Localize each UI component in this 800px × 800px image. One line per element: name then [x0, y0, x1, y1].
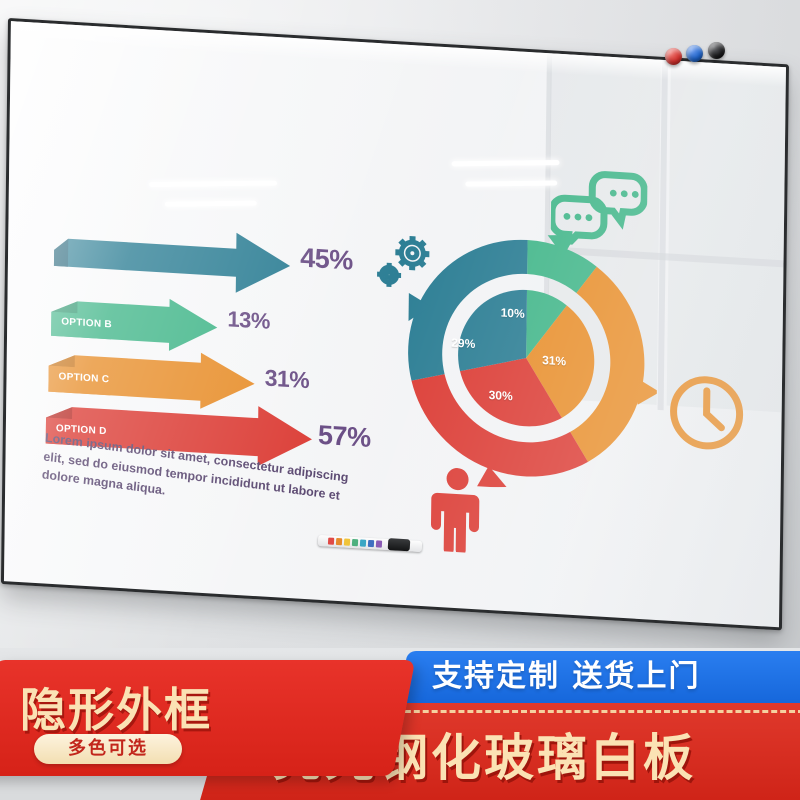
donut-value-green: 10%: [501, 306, 525, 321]
blue-promo-text: 支持定制 送货上门: [406, 651, 800, 703]
speech-bubbles-icon: [551, 163, 648, 254]
magnet-red[interactable]: [665, 48, 682, 65]
whiteboard-assembly: 45% OPTION B 13%: [0, 0, 800, 680]
feature-tag-pill-text: 多色可选: [34, 734, 182, 764]
product-image: 45% OPTION B 13%: [0, 0, 800, 800]
gears-icon: [374, 229, 437, 300]
bar-value-3: 31%: [265, 365, 310, 395]
person-icon: [429, 464, 486, 558]
magnet-black[interactable]: [708, 42, 725, 59]
donut-value-teal: 29%: [451, 336, 475, 351]
feature-tag-pill: 多色可选: [34, 734, 182, 764]
bar-value-2: 13%: [227, 306, 270, 335]
bar-value-4: 57%: [318, 420, 371, 454]
marker-purple[interactable]: [376, 540, 382, 547]
marker-blue[interactable]: [368, 540, 374, 547]
clock-icon: [664, 366, 749, 460]
bar-value-1: 45%: [300, 243, 353, 277]
blue-promo-tag: 支持定制 送货上门: [406, 651, 800, 703]
marker-cyan[interactable]: [360, 539, 366, 546]
promo-banner-zone: 支持定制 送货上门 亮光钢化玻璃白板 隐形外框 多色可选: [0, 648, 800, 800]
infographic: 45% OPTION B 13%: [4, 21, 786, 627]
magnet-blue[interactable]: [686, 45, 703, 62]
eraser[interactable]: [388, 538, 411, 551]
feature-tag: 隐形外框 多色可选: [0, 660, 415, 776]
donut-value-red: 30%: [489, 388, 513, 403]
marker-yellow[interactable]: [344, 538, 350, 545]
marker-red[interactable]: [328, 538, 334, 545]
donut-value-orange: 31%: [542, 353, 566, 368]
feature-tag-title: 隐形外框: [20, 674, 212, 740]
marker-green[interactable]: [352, 539, 358, 546]
marker-orange[interactable]: [336, 538, 342, 545]
